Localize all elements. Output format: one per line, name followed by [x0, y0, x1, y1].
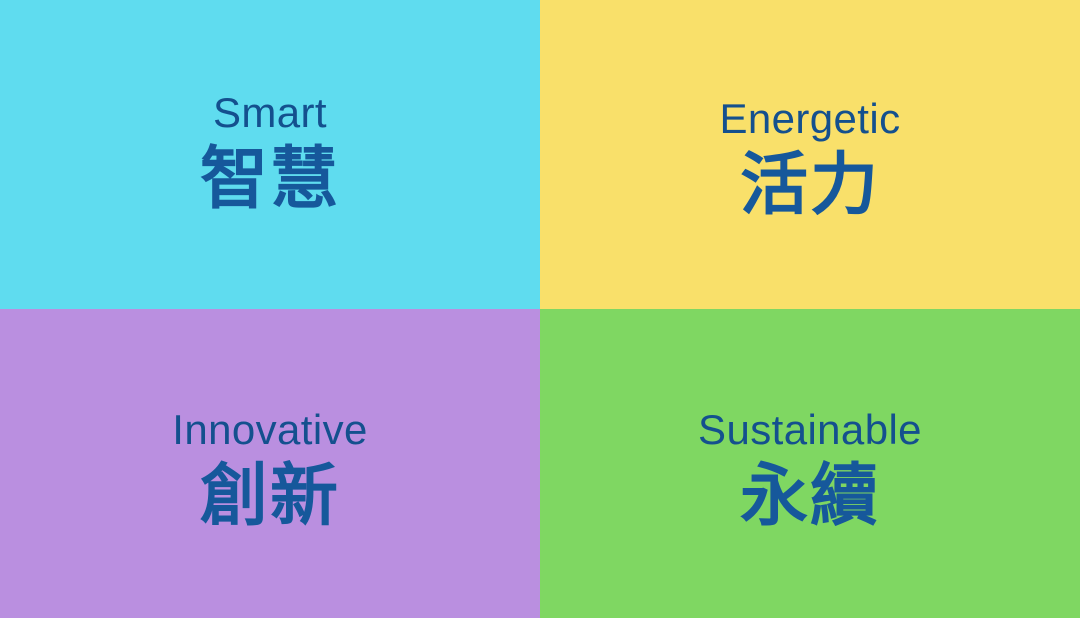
- tile-energetic-label-english: Energetic: [719, 98, 900, 140]
- tile-sustainable-text-stack: Sustainable 永續: [540, 309, 1080, 618]
- tile-smart-label-english: Smart: [213, 92, 327, 134]
- tile-energetic-text-stack: Energetic 活力: [540, 0, 1080, 309]
- brand-values-grid: Smart 智慧 Energetic 活力 Innovative 創新 Sust…: [0, 0, 1080, 618]
- tile-innovative-label-chinese: 創新: [200, 463, 340, 531]
- tile-smart-label-chinese: 智慧: [200, 146, 340, 214]
- tile-smart[interactable]: Smart 智慧: [0, 0, 540, 309]
- tile-innovative-label-english: Innovative: [172, 409, 367, 451]
- tile-sustainable-label-english: Sustainable: [698, 409, 922, 451]
- tile-innovative-text-stack: Innovative 創新: [0, 309, 540, 618]
- tile-sustainable-label-chinese: 永續: [740, 463, 880, 531]
- tile-energetic[interactable]: Energetic 活力: [540, 0, 1080, 309]
- tile-innovative[interactable]: Innovative 創新: [0, 309, 540, 618]
- brand-values-canvas: Smart 智慧 Energetic 活力 Innovative 創新 Sust…: [0, 0, 1080, 618]
- tile-smart-text-stack: Smart 智慧: [0, 0, 540, 309]
- tile-energetic-label-chinese: 活力: [740, 152, 880, 220]
- tile-sustainable[interactable]: Sustainable 永續: [540, 309, 1080, 618]
